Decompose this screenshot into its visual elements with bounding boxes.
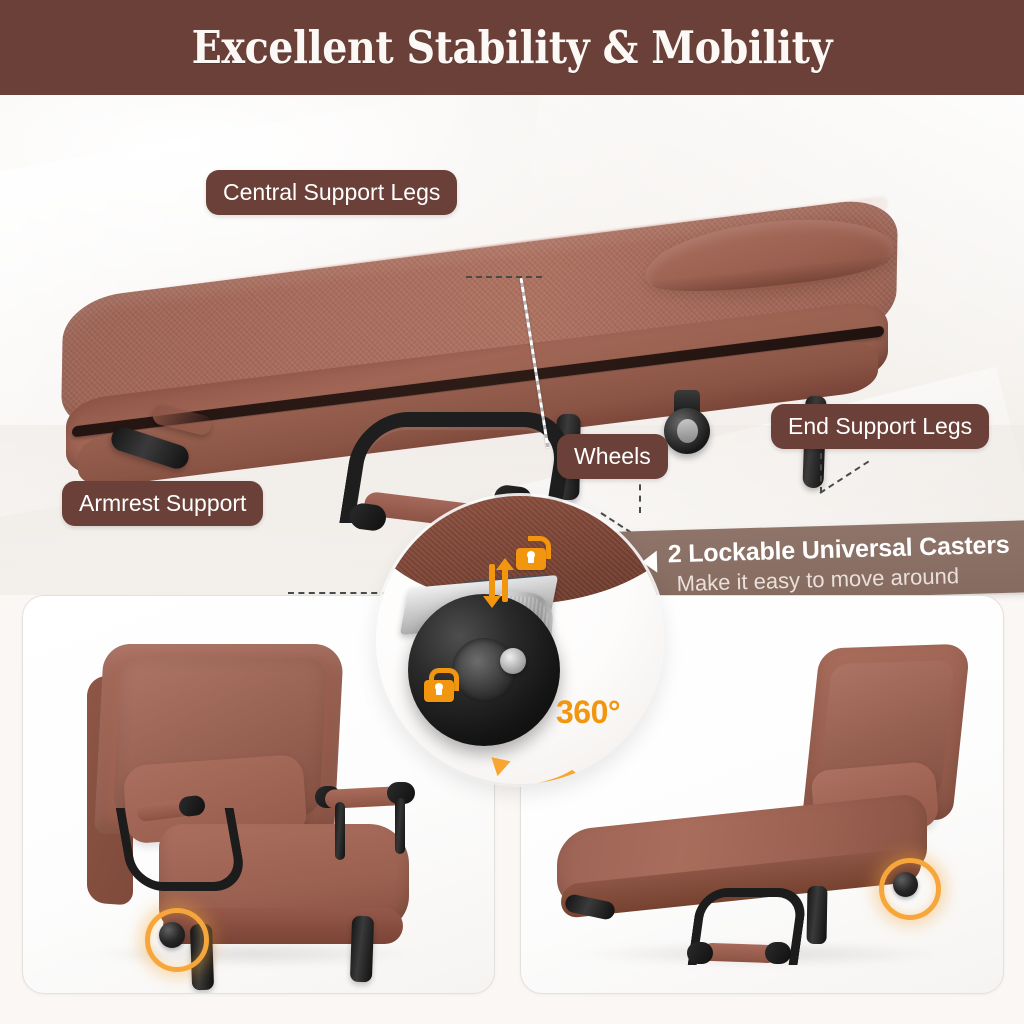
page-title: Excellent Stability & Mobility (192, 21, 832, 74)
arrow-up (502, 568, 508, 602)
callout-wheels[interactable]: Wheels (557, 434, 668, 479)
chaise-central-support-leg (806, 886, 827, 944)
caster-banner-subtitle: Make it easy to move around (676, 563, 959, 597)
lock-open-keyhole (528, 554, 534, 563)
rotation-degree-label: 360° (556, 694, 620, 731)
chair-caster-highlight-ring (145, 908, 209, 972)
chaise-armrest-cap-left (687, 942, 713, 964)
chair-armrest-post-front (335, 802, 345, 860)
callout-end-support-legs[interactable]: End Support Legs (771, 404, 989, 449)
caster-axle-bolt (500, 648, 526, 674)
chair-folded-armrest-frame (116, 808, 249, 891)
caster-wheel (664, 408, 710, 454)
header-banner: Excellent Stability & Mobility (0, 0, 1024, 95)
callout-armrest-support[interactable]: Armrest Support (62, 481, 263, 526)
up-down-arrow-icon (482, 558, 516, 608)
chaise-caster-highlight-ring (879, 858, 941, 920)
leader-line-armrest-horizontal (288, 592, 398, 594)
lock-closed-keyhole (436, 686, 442, 695)
lock-closed-icon (424, 668, 454, 702)
chair-front-leg-right (350, 916, 374, 983)
infographic-root: Excellent Stability & Mobility (0, 0, 1024, 1024)
chaise-armrest-cap-right (765, 942, 791, 964)
lock-open-body (516, 548, 546, 570)
lock-closed-body (424, 680, 454, 702)
chair-armrest-post-rear (395, 798, 405, 854)
leader-line-central (466, 276, 542, 278)
arrow-down (489, 564, 495, 598)
leader-line-end-legs-vertical (820, 453, 822, 493)
lock-open-icon (516, 536, 546, 570)
callout-central-support-legs[interactable]: Central Support Legs (206, 170, 457, 215)
caster-detail-circle: 360° (376, 496, 664, 784)
